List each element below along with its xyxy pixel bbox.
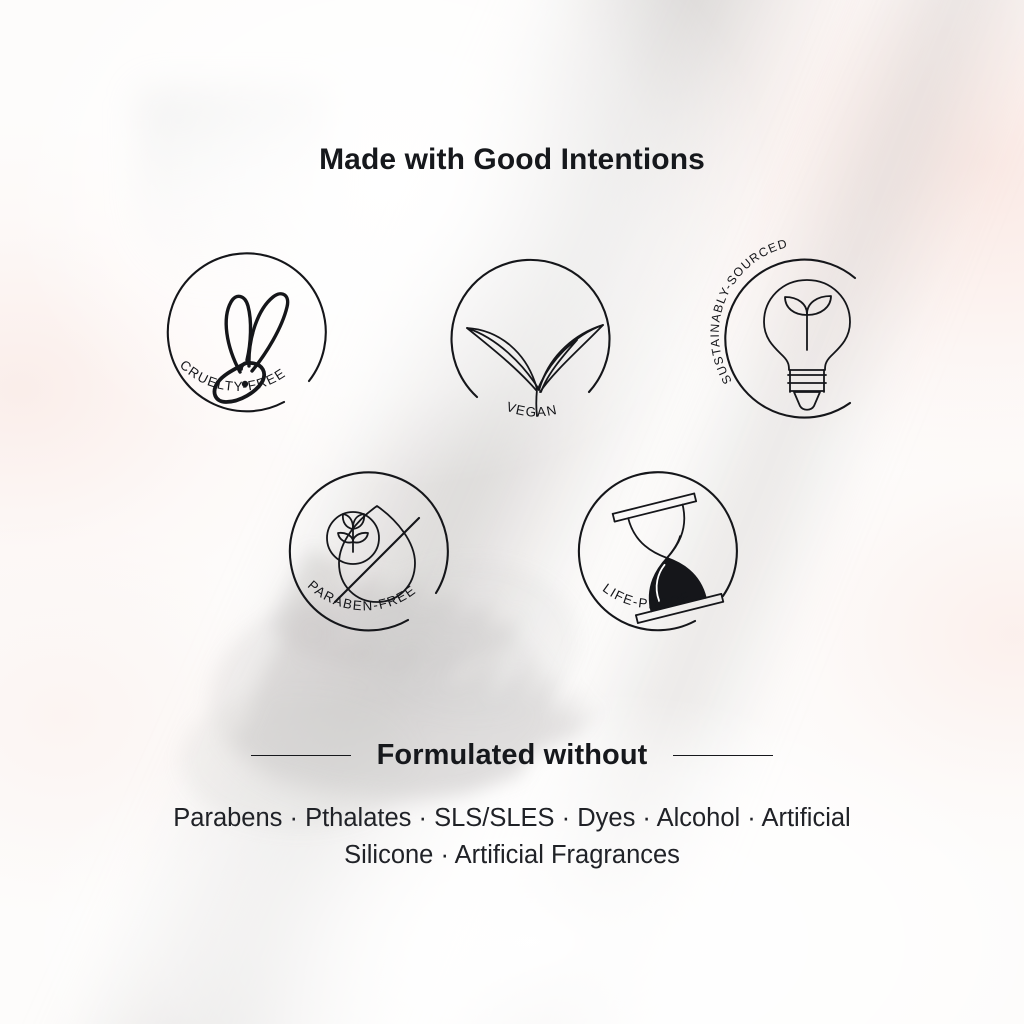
- badge-label: VEGAN: [504, 399, 559, 420]
- badge-sustainably-sourced: SUSTAINABLY-SOURCED: [707, 242, 907, 442]
- divider-rule-right: [673, 755, 773, 756]
- badge-cruelty-free: CRUELTY-FREE: [152, 242, 352, 442]
- formulated-without-heading: Formulated without: [0, 739, 1024, 772]
- badge-label: PARABEN-FREE: [305, 577, 419, 613]
- excluded-ingredients-list: Parabens · Pthalates · SLS/SLES · Dyes ·…: [0, 800, 1024, 874]
- formulated-without-title: Formulated without: [377, 739, 648, 772]
- badge-label: SUSTAINABLY-SOURCED: [708, 236, 790, 386]
- badge-label: CRUELTY-FREE: [177, 357, 289, 394]
- badge-vegan: VEGAN: [437, 242, 637, 442]
- page-title: Made with Good Intentions: [0, 143, 1024, 177]
- excluded-ingredients-line-2: Silicone · Artificial Fragrances: [0, 837, 1024, 874]
- lightbulb-sprout-icon: [764, 280, 850, 410]
- badge-life-proof: LIFE-PROOF: [567, 458, 767, 658]
- divider-rule-left: [251, 755, 351, 756]
- content-root: Made with Good Intentions CRUELTY-FREE: [0, 0, 1024, 1024]
- promo-panel: Made with Good Intentions CRUELTY-FREE: [0, 0, 1024, 1024]
- excluded-ingredients-line-1: Parabens · Pthalates · SLS/SLES · Dyes ·…: [0, 800, 1024, 837]
- leaf-sprout-icon: [467, 325, 603, 416]
- badge-paraben-free: PARABEN-FREE: [277, 458, 477, 658]
